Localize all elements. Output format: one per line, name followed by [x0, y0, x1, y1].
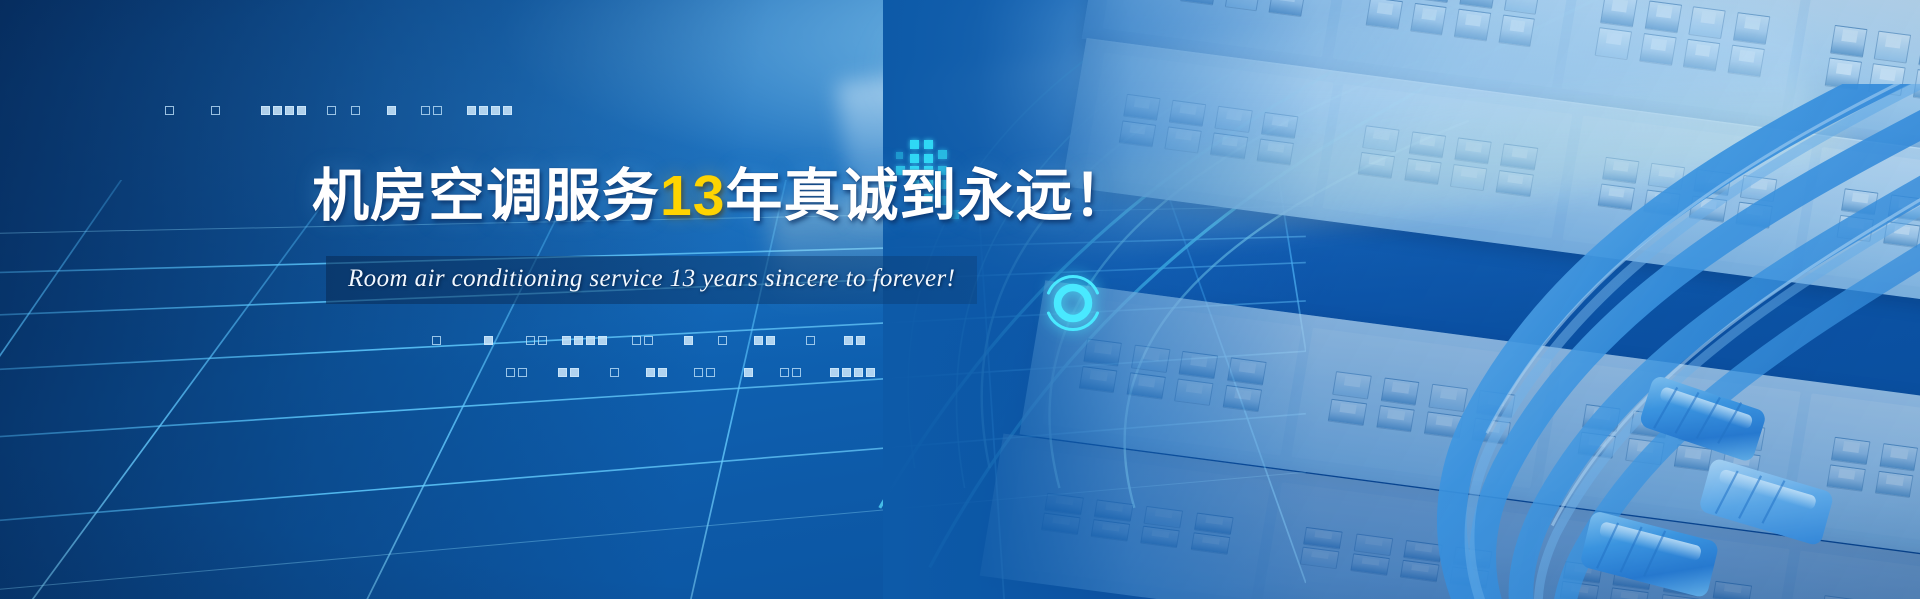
- subtitle: Room air conditioning service 13 years s…: [348, 265, 955, 293]
- subtitle-band: Room air conditioning service 13 years s…: [326, 256, 977, 304]
- headline-prefix: 机房空调服务: [312, 164, 660, 228]
- banner-copy: 机房空调服务13年真诚到永远！ Room air conditioning se…: [0, 0, 1920, 599]
- hero-banner: 机房空调服务13年真诚到永远！ Room air conditioning se…: [0, 0, 1920, 599]
- headline-highlight-number: 13: [660, 164, 725, 228]
- headline-suffix: 年真诚到永远！: [725, 164, 1131, 228]
- headline: 机房空调服务13年真诚到永远！: [312, 166, 1131, 226]
